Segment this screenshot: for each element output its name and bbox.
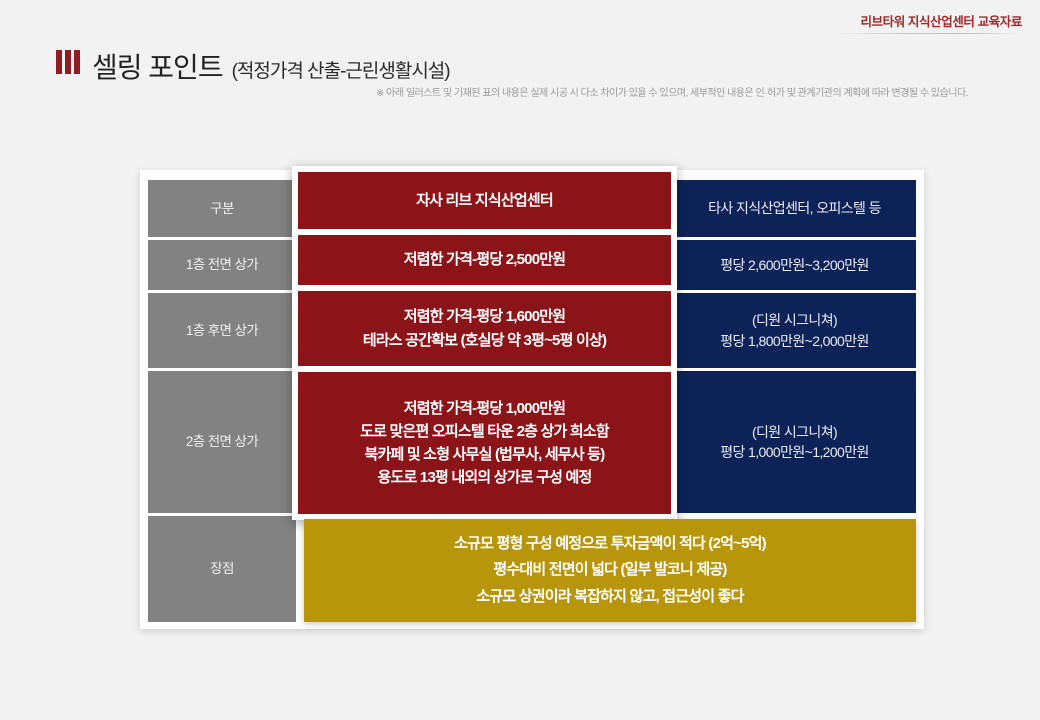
row-label-floor1-rear: 1층 후면 상가 — [148, 293, 296, 368]
page-title-main: 셀링 포인트 — [92, 46, 223, 86]
header-divider — [832, 33, 1022, 34]
own-column-panel: 자사 리브 지식산업센터 저렴한 가격-평당 2,500만원 저렴한 가격-평당… — [292, 166, 677, 520]
own-column-header: 자사 리브 지식산업센터 — [298, 172, 671, 229]
row-label-advantages: 장점 — [148, 516, 296, 622]
other-column-row-3: (디원 시그니쳐) 평당 1,000만원~1,200만원 — [673, 371, 916, 513]
other-column-header: 타사 지식산업센터, 오피스텔 등 — [673, 180, 916, 237]
title-bullet-icon — [56, 50, 80, 74]
row-label-category: 구분 — [148, 180, 296, 237]
own-column-row-3: 저렴한 가격-평당 1,000만원 도로 맞은편 오피스텔 타운 2층 상가 희… — [298, 372, 671, 514]
other-column-row-2: (디원 시그니쳐) 평당 1,800만원~2,000만원 — [673, 293, 916, 368]
page-title: 셀링 포인트 (적정가격 산출-근린생활시설) — [56, 46, 450, 86]
advantages-band: 소규모 평형 구성 예정으로 투자금액이 적다 (2억~5억) 평수대비 전면이… — [304, 519, 916, 622]
top-header: 리브타워 지식산업센터 교육자료 — [0, 0, 1040, 36]
page-title-sub: (적정가격 산출-근린생활시설) — [232, 56, 450, 83]
row-label-floor1-front: 1층 전면 상가 — [148, 240, 296, 290]
own-column-row-1: 저렴한 가격-평당 2,500만원 — [298, 235, 671, 285]
disclaimer-note: ※ 아래 일러스트 및 기재된 표의 내용은 실제 시공 시 다소 차이가 있을… — [376, 84, 968, 99]
row-label-floor2-front: 2층 전면 상가 — [148, 371, 296, 513]
other-column-row-1: 평당 2,600만원~3,200만원 — [673, 240, 916, 290]
brand-note: 리브타워 지식산업센터 교육자료 — [860, 11, 1022, 30]
own-column-row-2: 저렴한 가격-평당 1,600만원 테라스 공간확보 (호실당 약 3평~5평 … — [298, 291, 671, 366]
